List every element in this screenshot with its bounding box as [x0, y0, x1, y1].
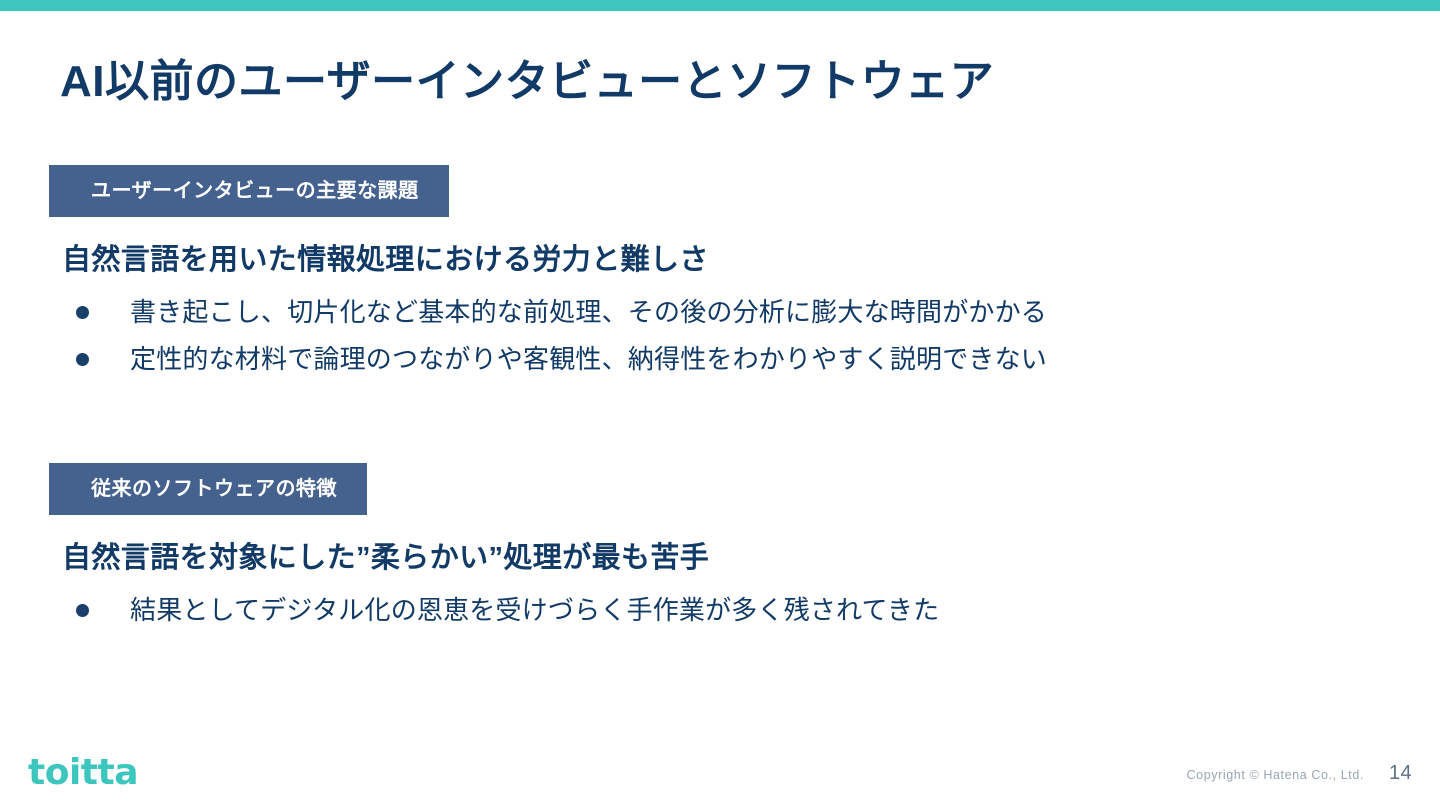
section-heading: 自然言語を対象にした”柔らかい”処理が最も苦手 — [62, 540, 1440, 576]
slide: AI以前のユーザーインタビューとソフトウェア ユーザーインタビューの主要な課題 … — [0, 0, 1440, 810]
list-item: 書き起こし、切片化など基本的な前処理、その後の分析に膨大な時間がかかる — [0, 291, 1440, 333]
list-item: 定性的な材料で論理のつながりや客観性、納得性をわかりやすく説明できない — [0, 338, 1440, 380]
list-item: 結果としてデジタル化の恩恵を受けづらく手作業が多く残されてきた — [0, 589, 1440, 631]
section-badge: 従来のソフトウェアの特徴 — [49, 463, 367, 515]
list-item-label: 結果としてデジタル化の恩恵を受けづらく手作業が多く残されてきた — [130, 595, 939, 625]
bullet-dot-icon — [76, 353, 89, 366]
page-number: 14 — [1389, 762, 1412, 785]
page-title: AI以前のユーザーインタビューとソフトウェア — [60, 56, 994, 109]
top-accent-bar — [0, 0, 1440, 11]
list-item-label: 書き起こし、切片化など基本的な前処理、その後の分析に膨大な時間がかかる — [130, 297, 1047, 327]
list-item-label: 定性的な材料で論理のつながりや客観性、納得性をわかりやすく説明できない — [130, 344, 1047, 374]
section-interview-challenges: ユーザーインタビューの主要な課題 自然言語を用いた情報処理における労力と難しさ … — [0, 165, 1440, 385]
brand-logo: toitta — [28, 755, 138, 791]
bullet-list: 書き起こし、切片化など基本的な前処理、その後の分析に膨大な時間がかかる 定性的な… — [0, 291, 1440, 380]
copyright-text: Copyright © Hatena Co., Ltd. — [1187, 768, 1364, 782]
bullet-list: 結果としてデジタル化の恩恵を受けづらく手作業が多く残されてきた — [0, 589, 1440, 631]
section-legacy-software: 従来のソフトウェアの特徴 自然言語を対象にした”柔らかい”処理が最も苦手 結果と… — [0, 463, 1440, 636]
bullet-dot-icon — [76, 306, 89, 319]
section-badge: ユーザーインタビューの主要な課題 — [49, 165, 449, 217]
bullet-dot-icon — [76, 604, 89, 617]
section-heading: 自然言語を用いた情報処理における労力と難しさ — [62, 242, 1440, 278]
